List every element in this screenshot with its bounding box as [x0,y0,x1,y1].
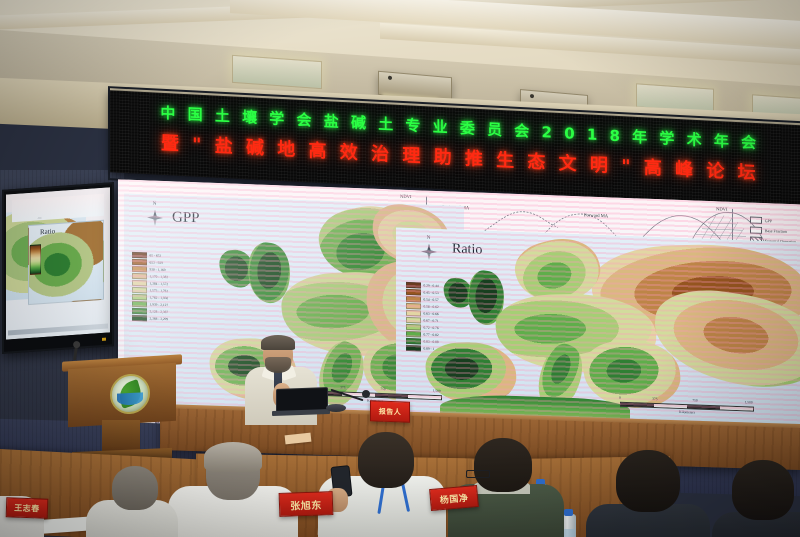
side-monitor: Ratio [2,182,114,354]
map-title-ratio: Ratio [452,242,482,259]
audience-nameplate-text: 张旭东 [290,496,322,512]
scale-tick: 750 [692,398,697,402]
legend-range: 0.45 - 0.53 [424,291,439,296]
legend-row: 0.89 - 1 [406,345,439,353]
audience-area: 王志春 张旭东 杨国净 [0,432,800,537]
legend-range: 653 - 929 [150,261,163,265]
scale-tick: 375 [652,397,657,401]
audience-member [712,460,800,537]
audience-nameplate: 张旭东 [279,491,334,517]
side-monitor-display: Ratio [6,187,110,339]
audience-member-head [112,466,158,510]
audience-nameplate-text: 王志春 [14,502,40,514]
microphone-head-icon [362,390,370,398]
scale-tick: 0 [619,396,621,400]
scale-tick: 1,500 [745,400,753,404]
audience-member [318,432,446,537]
presenter-hair [261,335,295,350]
audience-nameplate: 王志春 [6,497,49,518]
legend-range: 0.72 - 0.76 [424,326,439,331]
legend-range: 1,939 - 2,127 [150,303,169,308]
audience-member [168,440,298,537]
legend-range: 1,573 - 1,761 [150,289,169,294]
audience-member [86,466,178,537]
audience-member-head [358,432,414,488]
legend-row: 2,368 - 3,299 [132,315,168,323]
map-ratio: N Ratio 0.29 - 0.44 0.45 - 0.53 0.54 - 0… [396,228,800,433]
side-monitor-power-led [102,338,106,341]
speaker-nameplate: 报告人 [370,400,410,422]
legend-range: 1,170 - 1,383 [150,275,169,280]
legend-swatch [750,227,762,234]
diagram-label: NDVI [716,206,727,211]
legend-range: 2,368 - 3,299 [150,317,169,322]
diagram-label: NDVI [400,194,411,199]
table-microphone [330,392,374,418]
eyeglasses-icon [466,470,490,478]
scale-tick: 375 [340,385,345,389]
legend-range: 0.63 - 0.66 [424,312,439,317]
audience-nameplate-text: 杨国净 [439,490,469,505]
audience-member-head [474,438,532,492]
diagram-label: Forward MA [584,212,608,218]
legend-range: 1,762 - 1,938 [150,296,169,301]
audience-member-head [732,460,794,520]
legend-range: 0.67 - 0.71 [424,319,439,324]
legend-swatch [750,217,762,224]
map-legend-gpp: 65 - 652 653 - 929 930 - 1,169 1,170 - 1… [132,252,168,323]
audience-member-hair [204,442,262,472]
map-legend-ratio: 0.29 - 0.44 0.45 - 0.53 0.54 - 0.57 0.58… [406,282,439,353]
audience-member [586,450,710,537]
conference-photo-scene: 中 国 土 壤 学 会 盐 碱 土 专 业 委 员 会 2 0 1 8 年 学 … [0,0,800,537]
laptop-base [272,409,330,416]
scale-tick: 1,500 [433,389,441,393]
map-title-gpp: GPP [172,209,200,227]
compass-north-label: N [153,202,157,207]
compass-north-label: N [427,236,431,241]
legend-range: 0.83 - 0.88 [424,340,439,345]
diagram-legend-label: Base Fraction [765,228,787,234]
speaker-nameplate-text: 报告人 [379,406,402,417]
legend-range: 1,384 - 1,572 [150,282,169,287]
legend-range: 930 - 1,169 [150,268,166,273]
legend-range: 2,128 - 2,367 [150,310,169,315]
compass-rose: N [146,208,163,226]
legend-range: 0.29 - 0.44 [424,284,439,289]
presenter-beard [265,357,291,373]
side-monitor-map-title: Ratio [40,227,55,236]
diagram-legend-label: GPP [765,218,772,223]
legend-range: 0.77 - 0.82 [424,333,439,338]
legend-range: 0.54 - 0.57 [424,298,439,303]
compass-rose: N [420,242,437,260]
legend-range: 0.89 - 1 [424,347,435,351]
audience-member-head [616,450,680,512]
scale-tick: 750 [380,387,385,391]
presenter-laptop [272,388,330,416]
legend-range: 0.58 - 0.62 [424,305,439,310]
legend-range: 65 - 652 [150,254,162,258]
audience-nameplate: 杨国净 [429,485,479,511]
